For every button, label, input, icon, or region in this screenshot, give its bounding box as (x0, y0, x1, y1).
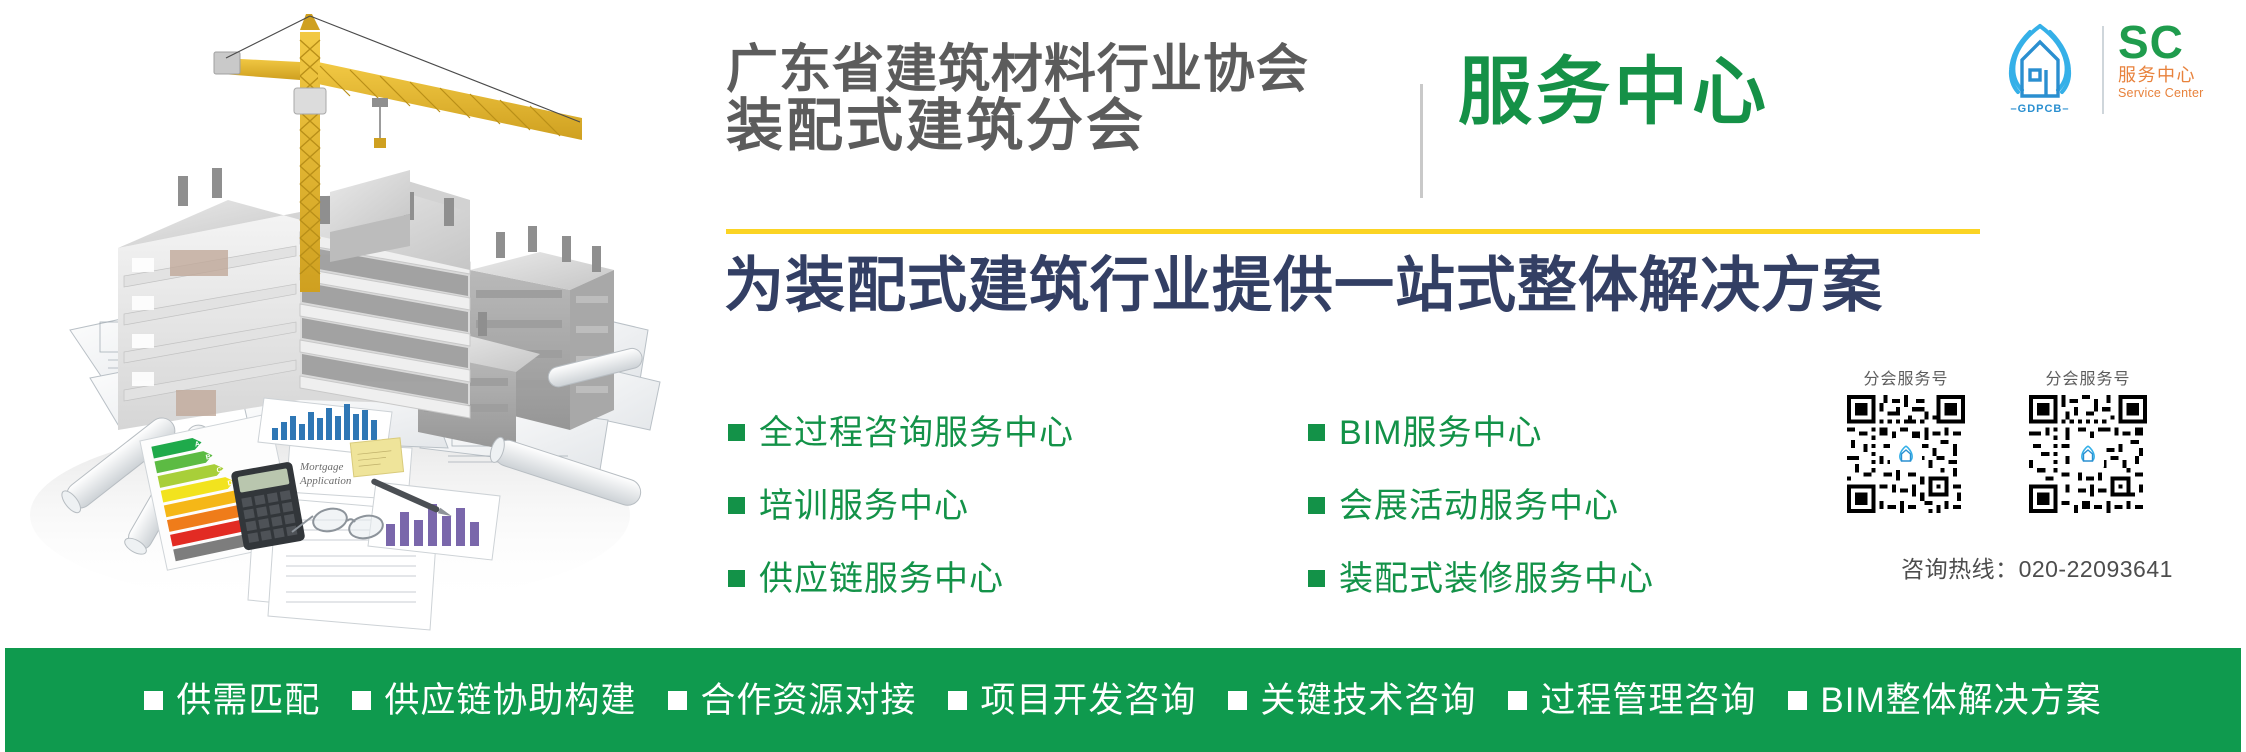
service-list-right: BIM服务中心 会展活动服务中心 装配式装修服务中心 (1308, 408, 1654, 627)
list-item[interactable]: BIM服务中心 (1308, 408, 1654, 457)
service-label: BIM服务中心 (1339, 416, 1542, 450)
footer-label: 供需匹配 (176, 683, 320, 718)
service-list-left: 全过程咨询服务中心 培训服务中心 供应链服务中心 (728, 408, 1074, 627)
list-item[interactable]: 关键技术咨询 (1228, 683, 1476, 718)
qr-cell: 分会服务号 (2018, 372, 2158, 513)
service-label: 供应链服务中心 (759, 562, 1004, 596)
square-bullet-icon (1788, 691, 1807, 710)
logo-lockup: –GDPCB– SC 服务中心 Service Center (1986, 12, 2236, 116)
sc-chinese-label: 服务中心 (2118, 65, 2236, 86)
square-bullet-icon (1308, 570, 1325, 587)
title-divider (1420, 84, 1423, 198)
list-item[interactable]: 供应链服务中心 (728, 554, 1074, 603)
svg-text:–GDPCB–: –GDPCB– (2011, 103, 2070, 115)
construction-site-illustration: AB CD EF GH Mortgage Application (0, 0, 672, 648)
slogan: 为装配式建筑行业提供一站式整体解决方案 (724, 253, 1883, 319)
list-item[interactable]: 过程管理咨询 (1508, 683, 1756, 718)
square-bullet-icon (144, 691, 163, 710)
footer-label: 过程管理咨询 (1540, 683, 1756, 718)
association-title-line1: 广东省建筑材料行业协会 (726, 44, 1309, 97)
promo-banner: AB CD EF GH Mortgage Application (0, 0, 2246, 752)
service-label: 装配式装修服务中心 (1339, 562, 1654, 596)
square-bullet-icon (728, 497, 745, 514)
sc-english-label: Service Center (2118, 86, 2236, 101)
footer-label: 供应链协助构建 (384, 683, 636, 718)
logo-separator (2102, 26, 2104, 114)
yellow-divider-rule (726, 229, 1980, 234)
association-title: 广东省建筑材料行业协会 装配式建筑分会 (726, 44, 1309, 155)
list-item[interactable]: 供应链协助构建 (352, 683, 636, 718)
svg-text:Application: Application (299, 475, 352, 487)
list-item[interactable]: 供需匹配 (144, 683, 320, 718)
list-item[interactable]: 项目开发咨询 (948, 683, 1196, 718)
square-bullet-icon (1308, 424, 1325, 441)
service-label: 培训服务中心 (759, 489, 969, 523)
list-item[interactable]: 会展活动服务中心 (1308, 481, 1654, 530)
list-item[interactable]: 全过程咨询服务中心 (728, 408, 1074, 457)
qr-code-image[interactable] (1847, 395, 1965, 513)
footer-label: BIM整体解决方案 (1820, 683, 2101, 718)
qr-caption: 分会服务号 (1836, 372, 1976, 388)
square-bullet-icon (1508, 691, 1527, 710)
service-center-logo: SC 服务中心 Service Center (2118, 18, 2236, 101)
qr-center-logo-icon (1891, 439, 1921, 469)
footer-service-bar: 供需匹配 供应链协助构建 合作资源对接 项目开发咨询 关键技术咨询 过程管理咨询… (5, 648, 2241, 752)
association-title-line2: 装配式建筑分会 (726, 97, 1309, 155)
hotline-text: 咨询热线：020-22093641 (1836, 550, 2238, 584)
service-label: 会展活动服务中心 (1339, 489, 1619, 523)
square-bullet-icon (352, 691, 371, 710)
footer-label: 合作资源对接 (700, 683, 916, 718)
square-bullet-icon (728, 570, 745, 587)
square-bullet-icon (728, 424, 745, 441)
service-center-heading: 服务中心 (1458, 55, 1770, 129)
qr-code-image[interactable] (2029, 395, 2147, 513)
list-item[interactable]: 合作资源对接 (668, 683, 916, 718)
list-item[interactable]: 培训服务中心 (728, 481, 1074, 530)
footer-label: 项目开发咨询 (980, 683, 1196, 718)
qr-cell: 分会服务号 (1836, 372, 1976, 513)
sc-initials: SC (2118, 18, 2236, 66)
qr-center-logo-icon (2073, 439, 2103, 469)
gdpcb-house-flame-logo-icon: –GDPCB– (1986, 12, 2094, 116)
list-item[interactable]: 装配式装修服务中心 (1308, 554, 1654, 603)
qr-caption: 分会服务号 (2018, 372, 2158, 388)
svg-text:Mortgage: Mortgage (299, 461, 344, 473)
service-label: 全过程咨询服务中心 (759, 416, 1074, 450)
square-bullet-icon (1228, 691, 1247, 710)
list-item[interactable]: BIM整体解决方案 (1788, 683, 2101, 718)
qr-code-section: 分会服务号 (1836, 372, 2238, 513)
square-bullet-icon (668, 691, 687, 710)
footer-label: 关键技术咨询 (1260, 683, 1476, 718)
square-bullet-icon (1308, 497, 1325, 514)
square-bullet-icon (948, 691, 967, 710)
